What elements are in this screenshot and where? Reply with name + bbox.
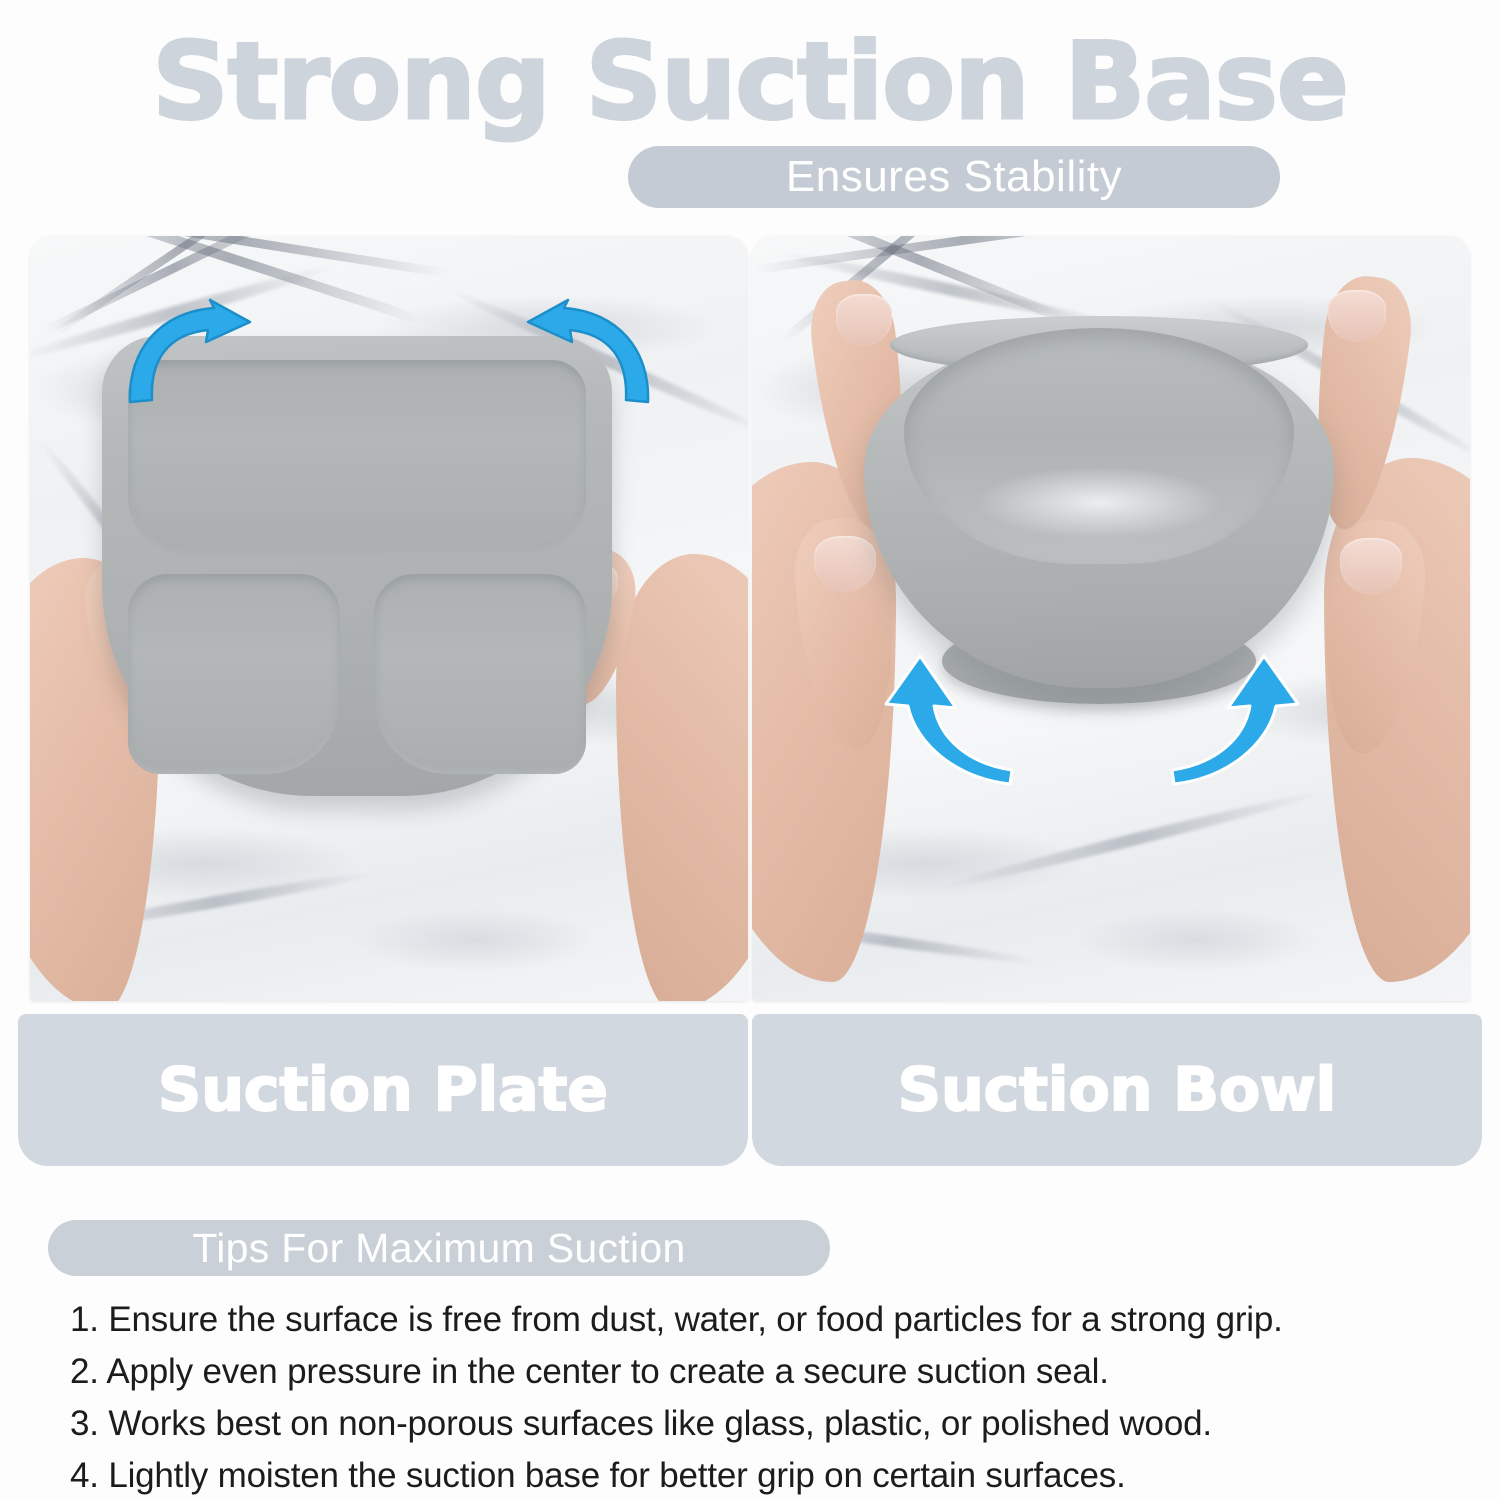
caption-label: Suction Bowl [898,1055,1337,1125]
up-arrow-right-icon [1140,656,1300,786]
panel-suction-bowl: Suction Bowl [752,236,1470,1166]
up-arrow-left-icon [884,656,1044,786]
right-hand [616,554,748,1001]
header: Strong Suction Base Ensures Stability [0,0,1500,220]
plate-compartment-bottom-left [128,574,340,774]
tips-heading-badge: Tips For Maximum Suction [48,1220,830,1276]
tip-item: 1. Ensure the surface is free from dust,… [70,1294,1450,1346]
bowl-interior [904,328,1294,564]
tips-heading-label: Tips For Maximum Suction [192,1225,685,1272]
subtitle-badge: Ensures Stability [628,146,1280,208]
tip-item: 3. Works best on non-porous surfaces lik… [70,1398,1450,1450]
plate-compartment-bottom-right [374,574,586,774]
page-title: Strong Suction Base [0,26,1500,137]
photo-suction-bowl [752,236,1470,1001]
caption-label: Suction Plate [158,1055,608,1125]
curved-arrow-left-icon [122,298,262,408]
photo-suction-plate [30,236,748,1001]
product-panels: Suction Plate [0,236,1500,1166]
caption-suction-bowl: Suction Bowl [752,1014,1482,1166]
tip-item: 2. Apply even pressure in the center to … [70,1346,1450,1398]
curved-arrow-right-icon [516,298,656,408]
caption-suction-plate: Suction Plate [18,1014,748,1166]
tip-item: 4. Lightly moisten the suction base for … [70,1450,1450,1500]
infographic-page: Strong Suction Base Ensures Stability [0,0,1500,1500]
tips-list: 1. Ensure the surface is free from dust,… [70,1294,1450,1500]
subtitle-label: Ensures Stability [786,152,1122,202]
panel-suction-plate: Suction Plate [30,236,748,1166]
tips-section: Tips For Maximum Suction 1. Ensure the s… [0,1206,1500,1500]
